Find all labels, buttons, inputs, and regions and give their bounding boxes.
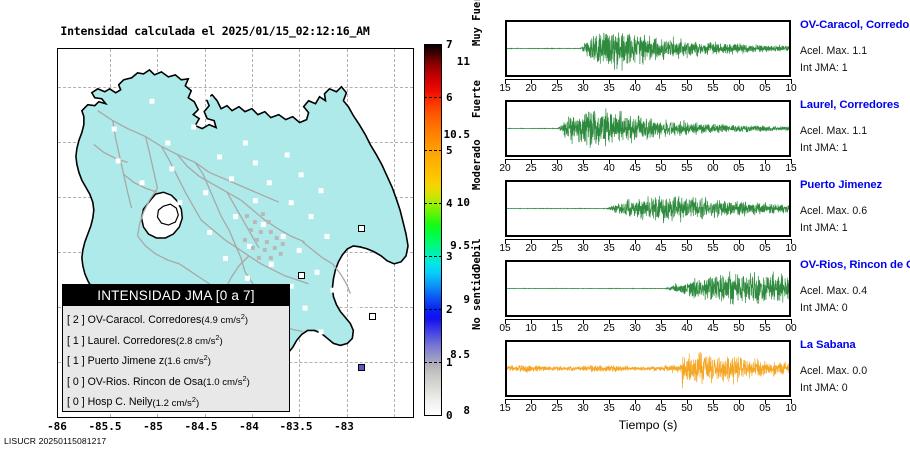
legend-accel-value: 4.9 [204, 315, 217, 326]
waveform-station-name: Puerto Jimenez [800, 179, 882, 191]
waveform-time-axis: 15 20 25 30 35 40 45 50 55 00 05 10 [505, 239, 791, 255]
time-axis-title: Tiempo (s) [505, 418, 791, 432]
accel-number: 1.1 [852, 125, 867, 137]
legend-jma-value: [ 2 ] [67, 314, 85, 326]
unit-close: ) [247, 377, 250, 388]
intensity-colorbar [424, 44, 442, 416]
axis-tick-label: 10 [776, 83, 806, 94]
jma-prefix: Int JMA: [800, 222, 842, 234]
map-plot-area: INTENSIDAD JMA [0 a 7] [ 2 ] OV-Caracol.… [57, 48, 414, 418]
waveform-time-axis: 15 20 25 30 35 40 45 50 55 00 05 10 [505, 79, 791, 95]
legend-header: INTENSIDAD JMA [0 a 7] [63, 285, 289, 306]
colorbar-tick-label: 1 [446, 356, 453, 369]
intensity-legend-box: INTENSIDAD JMA [0 a 7] [ 2 ] OV-Caracol.… [62, 284, 290, 412]
map-station-marker [369, 313, 376, 320]
legend-row: [ 1 ] Laurel. Corredores(2.8 cm/s2) [67, 330, 289, 351]
waveform-jma-value: Int JMA: 1 [800, 62, 848, 74]
colorbar-tick-label: 5 [446, 144, 453, 157]
legend-accel-value: 1.2 [156, 398, 169, 409]
waveform-accel-value: Acel. Max. 0.6 [800, 205, 867, 217]
accel-number: 1.1 [852, 45, 867, 57]
waveform-station-name: La Sabana [800, 339, 856, 351]
map-station-marker-highlighted [358, 364, 365, 371]
legend-station-name: Puerto Jimene z [88, 355, 165, 367]
accel-prefix: Acel. Max. [800, 45, 852, 57]
jma-number: 0 [842, 382, 848, 394]
accel-prefix: Acel. Max. [800, 125, 852, 137]
jma-prefix: Int JMA: [800, 142, 842, 154]
map-station-marker [298, 272, 305, 279]
colorbar-tick-label: 2 [446, 303, 453, 316]
waveform-time-axis: 15 20 25 30 35 40 45 50 55 00 05 10 [505, 399, 791, 415]
axis-line [505, 319, 791, 320]
colorbar-tick-label: 3 [446, 250, 453, 263]
legend-accel-value: 1.0 [206, 377, 219, 388]
legend-station-name: OV-Caracol. Corredores [88, 314, 202, 326]
legend-row: [ 1 ] Puerto Jimene z(1.6 cm/s2) [67, 350, 289, 371]
waveform-plot [505, 260, 791, 317]
legend-jma-value: [ 1 ] [67, 355, 85, 367]
axis-line [505, 239, 791, 240]
jma-prefix: Int JMA: [800, 382, 842, 394]
jma-number: 1 [842, 62, 848, 74]
accel-prefix: Acel. Max. [800, 365, 852, 377]
waveform-trace [507, 102, 789, 155]
legend-station-name: OV-Las Cruces. Puntarenas [88, 417, 220, 418]
waveform-jma-value: Int JMA: 0 [800, 382, 848, 394]
unit-main: cm/s [169, 398, 192, 409]
axis-tick-label: 00 [776, 323, 806, 334]
waveform-trace [507, 182, 789, 235]
colorbar-tick-label: 4 [446, 197, 453, 210]
jma-number: 0 [842, 302, 848, 314]
map-xtick-label: -83 [314, 420, 374, 433]
jma-number: 1 [842, 222, 848, 234]
axis-line [505, 159, 791, 160]
unit-close: ) [208, 356, 211, 367]
unit-main: cm/s [220, 377, 243, 388]
map-station-marker [358, 225, 365, 232]
legend-station-name: Hosp C. Neily [88, 397, 153, 409]
legend-station-name: OV-Rios. Rincon de Osa [88, 376, 203, 388]
waveform-station-name: OV-Caracol, Corredores [800, 19, 910, 31]
legend-station-name: Laurel. Corredores [88, 335, 176, 347]
colorbar-tick-label: 0 [446, 409, 453, 422]
waveform-trace [507, 262, 789, 315]
jma-prefix: Int JMA: [800, 302, 842, 314]
legend-row: [ 0 ] OV-Rios. Rincon de Osa(1.0 cm/s2) [67, 371, 289, 392]
jma-number: 1 [842, 142, 848, 154]
legend-jma-value: [ 0 ] [67, 376, 85, 388]
unit-main: cm/s [218, 315, 241, 326]
waveform-plot [505, 20, 791, 77]
waveform-accel-value: Acel. Max. 0.4 [800, 285, 867, 297]
legend-row: [ 2 ] OV-Caracol. Corredores(4.9 cm/s2) [67, 309, 289, 330]
waveform-time-axis: 20 25 30 35 40 45 50 55 00 05 10 15 [505, 159, 791, 175]
legend-jma-value: [ 0 ] [67, 417, 85, 418]
legend-row: [ 0 ] OV-Las Cruces. Puntarenas(0.9 cm/s… [67, 412, 289, 418]
waveform-plot [505, 340, 791, 397]
colorbar-tick [424, 256, 442, 257]
waveform-station-name: Laurel, Corredores [800, 99, 899, 111]
waveform-accel-value: Acel. Max. 1.1 [800, 45, 867, 57]
waveform-jma-value: Int JMA: 1 [800, 222, 848, 234]
legend-accel-value: 2.8 [179, 336, 192, 347]
colorbar-tick [424, 362, 442, 363]
intensity-map-panel: Intensidad calculada el 2025/01/15_02:12… [0, 0, 470, 460]
unit-close: ) [220, 336, 223, 347]
legend-accel-value: 1.6 [167, 356, 180, 367]
colorbar-tick [424, 97, 442, 98]
unit-main: cm/s [193, 336, 216, 347]
unit-main: cm/s [181, 356, 204, 367]
legend-jma-value: [ 0 ] [67, 397, 85, 409]
waveform-plot [505, 100, 791, 157]
footer-identifier: LISUCR 20250115081217 [4, 436, 106, 446]
waveform-trace [507, 22, 789, 75]
accel-prefix: Acel. Max. [800, 285, 852, 297]
accel-number: 0.6 [852, 205, 867, 217]
accel-number: 0.4 [852, 285, 867, 297]
colorbar-tick [424, 150, 442, 151]
axis-line [505, 79, 791, 80]
colorbar-tick-label: 7 [446, 38, 453, 51]
colorbar-tick [424, 309, 442, 310]
waveform-plot [505, 180, 791, 237]
axis-tick-label: 10 [776, 403, 806, 414]
legend-jma-value: [ 1 ] [67, 335, 85, 347]
waveform-accel-value: Acel. Max. 0.0 [800, 365, 867, 377]
waveform-trace [507, 342, 789, 395]
colorbar-tick-label: 6 [446, 91, 453, 104]
legend-row: [ 0 ] Hosp C. Neily(1.2 cm/s2) [67, 391, 289, 412]
unit-close: ) [196, 398, 199, 409]
jma-prefix: Int JMA: [800, 62, 842, 74]
accel-prefix: Acel. Max. [800, 205, 852, 217]
waveform-jma-value: Int JMA: 1 [800, 142, 848, 154]
waveform-station-name: OV-Rios, Rincon de Os [800, 259, 910, 271]
colorbar-tick [424, 203, 442, 204]
legend-station-list: [ 2 ] OV-Caracol. Corredores(4.9 cm/s2) … [63, 306, 289, 418]
map-title: Intensidad calculada el 2025/01/15_02:12… [0, 24, 430, 38]
axis-tick-label: 10 [776, 243, 806, 254]
waveform-jma-value: Int JMA: 0 [800, 302, 848, 314]
axis-line [505, 399, 791, 400]
unit-exponent: 2 [259, 415, 263, 418]
accel-number: 0.0 [852, 365, 867, 377]
waveform-time-axis: 05 10 15 20 25 30 35 40 45 50 55 00 [505, 319, 791, 335]
waveform-column: 15 20 25 30 35 40 45 50 55 00 05 10 OV-C… [470, 0, 910, 460]
unit-close: ) [245, 315, 248, 326]
axis-tick-label: 15 [776, 163, 806, 174]
waveform-accel-value: Acel. Max. 1.1 [800, 125, 867, 137]
